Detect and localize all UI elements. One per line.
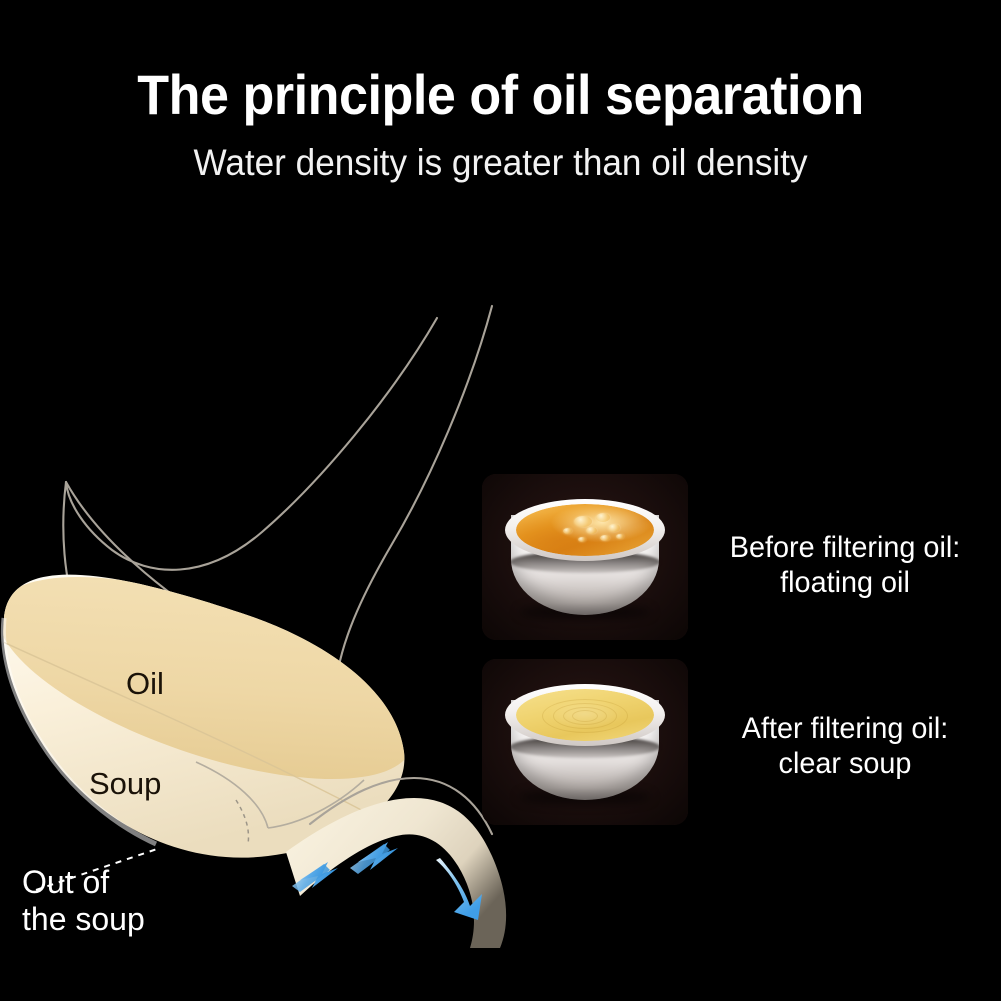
diagram-label-out-of-soup: Out of the soup (22, 864, 145, 938)
ladle-diagram (0, 300, 520, 960)
ripple-ring (572, 710, 598, 722)
photo-panel-before-filtering (482, 474, 688, 640)
caption-line-2: clear soup (704, 747, 986, 782)
caption-line-2: floating oil (704, 566, 986, 601)
infographic-root: The principle of oil separation Water de… (0, 0, 1001, 1001)
oil-droplet (578, 537, 586, 542)
diagram-label-oil: Oil (126, 666, 164, 702)
bowl-interior (516, 689, 654, 741)
oil-droplet (608, 524, 620, 532)
oil-droplet (600, 535, 610, 541)
page-subtitle: Water density is greater than oil densit… (25, 142, 976, 184)
oil-droplet (574, 516, 592, 527)
page-title: The principle of oil separation (35, 62, 966, 127)
soup-surface-oily (516, 504, 654, 556)
photo-panel-after-filtering (482, 659, 688, 825)
bowl-before (505, 493, 665, 621)
out-of-soup-line1: Out of (22, 864, 109, 900)
bowl-after (505, 678, 665, 806)
oil-droplet (586, 527, 597, 534)
bowl-interior (516, 504, 654, 556)
caption-line-1: Before filtering oil: (730, 531, 961, 564)
caption-line-1: After filtering oil: (742, 712, 948, 745)
out-of-soup-line2: the soup (22, 901, 145, 938)
diagram-label-soup: Soup (89, 766, 161, 802)
caption-before-filtering: Before filtering oil: floating oil (704, 531, 986, 601)
oil-droplet (563, 528, 572, 534)
oil-droplet (596, 513, 610, 522)
oil-droplet (616, 534, 624, 539)
caption-after-filtering: After filtering oil: clear soup (704, 712, 986, 782)
